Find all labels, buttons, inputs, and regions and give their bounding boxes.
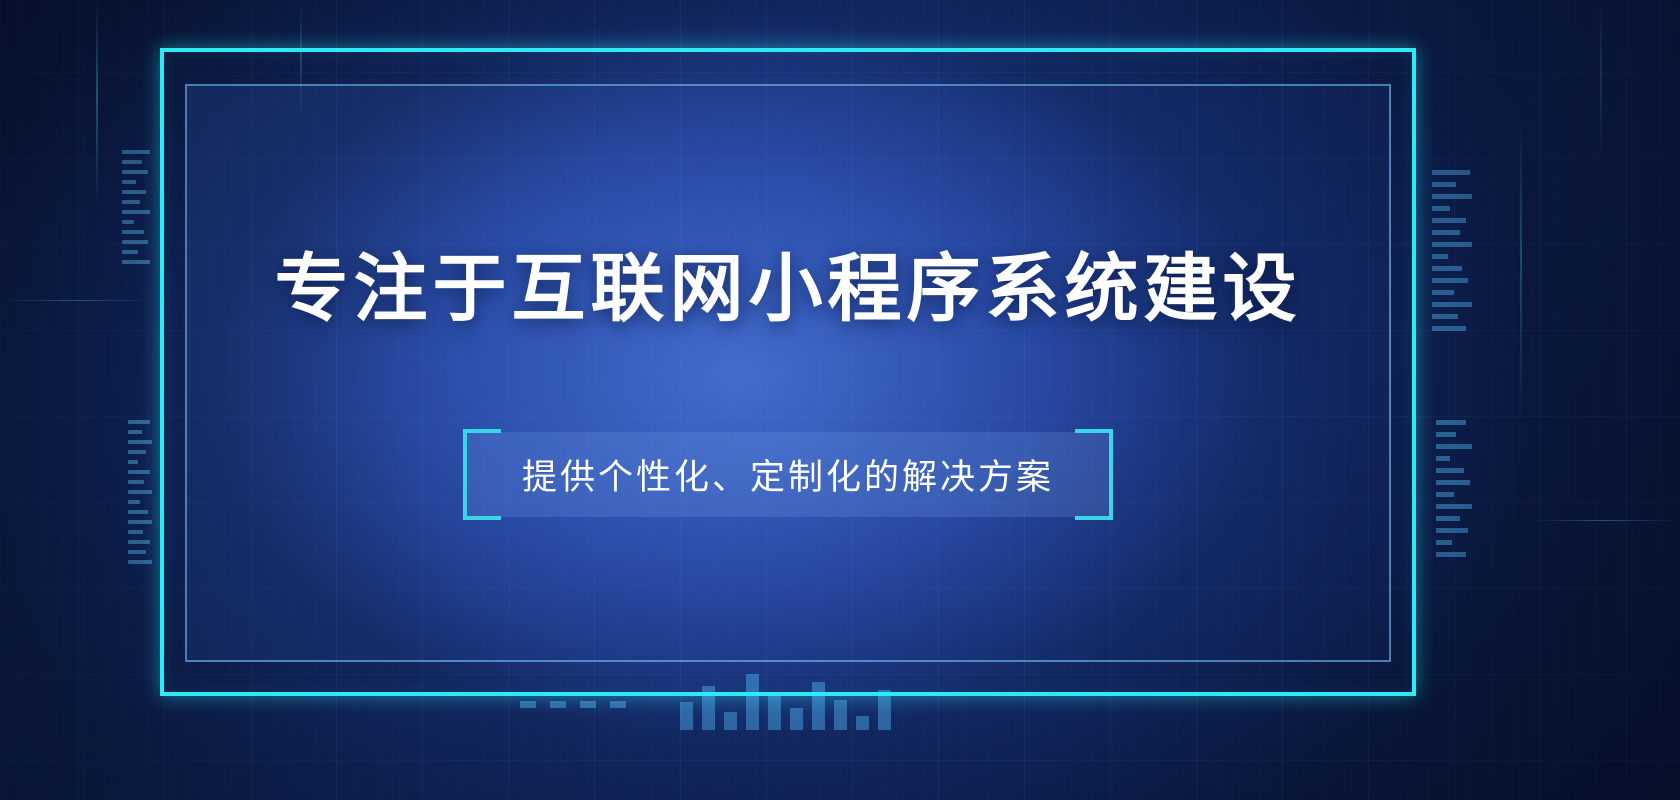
page-title: 专注于互联网小程序系统建设 — [275, 229, 1302, 336]
subtitle-right-edge — [1109, 429, 1113, 520]
corner-top-left-icon — [463, 429, 501, 467]
subtitle-left-edge — [463, 429, 467, 520]
corner-bottom-right-icon — [1075, 482, 1113, 520]
banner-content: 专注于互联网小程序系统建设 提供个性化、定制化的解决方案 — [185, 84, 1391, 662]
subtitle-text: 提供个性化、定制化的解决方案 — [522, 449, 1054, 500]
subtitle-badge: 提供个性化、定制化的解决方案 — [466, 432, 1110, 517]
corner-bottom-left-icon — [463, 482, 501, 520]
corner-top-right-icon — [1075, 429, 1113, 467]
banner-stage: 专注于互联网小程序系统建设 提供个性化、定制化的解决方案 — [0, 0, 1680, 800]
